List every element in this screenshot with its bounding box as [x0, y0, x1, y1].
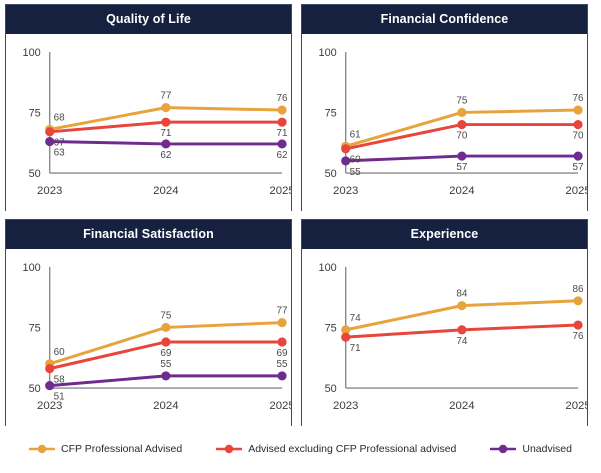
y-axis-tick-label: 100: [319, 47, 337, 59]
data-point-marker: [277, 337, 286, 346]
data-point-value-label: 70: [573, 130, 585, 141]
data-point-value-label: 68: [54, 112, 66, 123]
legend-item-unadvised[interactable]: Unadvised: [490, 443, 572, 455]
data-point-marker: [277, 371, 286, 380]
line-chart-financial-satisfaction: 5075100202320242025607577586969515555: [6, 249, 291, 426]
data-point-value-label: 76: [573, 93, 585, 104]
x-axis-tick-label: 2025: [565, 185, 587, 197]
data-point-marker: [277, 318, 286, 327]
line-chart-financial-confidence: 5075100202320242025617576607070555757: [302, 34, 587, 211]
data-point-value-label: 61: [350, 129, 362, 140]
line-dot-marker-icon: [216, 443, 242, 455]
panel-title: Financial Confidence: [302, 5, 587, 34]
y-axis-tick-label: 75: [325, 322, 337, 334]
data-point-value-label: 76: [573, 331, 585, 342]
chart-area: 5075100202320242025687776677171636262: [6, 34, 291, 211]
data-point-value-label: 76: [277, 93, 289, 104]
data-point-value-label: 51: [54, 391, 66, 402]
y-axis-tick-label: 50: [325, 383, 337, 395]
y-axis-tick-label: 50: [29, 168, 41, 180]
legend-item-cfp-professional-advised[interactable]: CFP Professional Advised: [29, 443, 182, 455]
data-point-value-label: 74: [350, 313, 362, 324]
data-point-value-label: 77: [277, 305, 289, 316]
data-point-marker: [573, 296, 582, 305]
data-point-value-label: 71: [350, 343, 362, 354]
y-axis-tick-label: 50: [29, 383, 41, 395]
legend-label: Unadvised: [522, 443, 572, 455]
y-axis-tick-label: 75: [29, 107, 41, 119]
y-axis-tick-label: 100: [23, 262, 41, 274]
data-point-value-label: 84: [456, 288, 468, 299]
y-axis-tick-label: 100: [23, 47, 41, 59]
data-point-value-label: 55: [277, 359, 289, 370]
x-axis-tick-label: 2025: [269, 400, 291, 412]
data-point-value-label: 60: [350, 154, 362, 165]
chart-panel-financial-satisfaction: Financial Satisfaction 50751002023202420…: [5, 219, 292, 426]
data-point-value-label: 57: [573, 162, 585, 173]
data-point-value-label: 75: [456, 95, 468, 106]
panel-title: Financial Satisfaction: [6, 220, 291, 249]
line-dot-marker-icon: [490, 443, 516, 455]
data-point-marker: [457, 120, 466, 129]
data-point-marker: [161, 139, 170, 148]
chart-panel-quality-of-life: Quality of Life 507510020232024202568777…: [5, 4, 292, 211]
data-point-value-label: 71: [160, 128, 172, 139]
x-axis-tick-label: 2024: [153, 400, 179, 412]
data-point-marker: [573, 151, 582, 160]
legend-item-advised-excluding-cfp[interactable]: Advised excluding CFP Professional advis…: [216, 443, 456, 455]
data-point-marker: [573, 120, 582, 129]
data-point-value-label: 77: [160, 90, 172, 101]
data-point-marker: [161, 337, 170, 346]
data-point-value-label: 69: [160, 348, 172, 359]
data-point-marker: [341, 332, 350, 341]
data-point-marker: [341, 144, 350, 153]
data-point-value-label: 55: [160, 359, 172, 370]
chart-area: 5075100202320242025617576607070555757: [302, 34, 587, 211]
data-point-value-label: 62: [160, 150, 172, 161]
y-axis-tick-label: 100: [319, 262, 337, 274]
panel-title: Experience: [302, 220, 587, 249]
data-point-marker: [457, 108, 466, 117]
data-point-marker: [457, 325, 466, 334]
legend-dot: [499, 445, 507, 453]
legend-label: CFP Professional Advised: [61, 443, 182, 455]
chart-area: 5075100202320242025748486717476: [302, 249, 587, 426]
x-axis-tick-label: 2023: [37, 185, 62, 197]
x-axis-tick-label: 2023: [333, 185, 358, 197]
chart-panel-experience: Experience 50751002023202420257484867174…: [301, 219, 588, 426]
data-point-marker: [277, 139, 286, 148]
y-axis-tick-label: 50: [325, 168, 337, 180]
data-point-marker: [457, 151, 466, 160]
data-point-marker: [457, 301, 466, 310]
legend-dot: [38, 445, 46, 453]
x-axis-tick-label: 2024: [449, 400, 475, 412]
data-point-value-label: 58: [54, 374, 66, 385]
x-axis-tick-label: 2025: [269, 185, 291, 197]
data-point-value-label: 70: [456, 130, 468, 141]
data-point-marker: [45, 364, 54, 373]
x-axis-tick-label: 2024: [153, 185, 179, 197]
data-point-marker: [573, 105, 582, 114]
x-axis-tick-label: 2025: [565, 400, 587, 412]
data-point-marker: [161, 103, 170, 112]
data-point-value-label: 63: [54, 147, 66, 158]
data-point-value-label: 55: [350, 167, 362, 178]
data-point-marker: [573, 320, 582, 329]
data-point-marker: [161, 117, 170, 126]
data-point-value-label: 62: [277, 150, 289, 161]
chart-legend: CFP Professional Advised Advised excludi…: [0, 443, 601, 455]
chart-area: 5075100202320242025607577586969515555: [6, 249, 291, 426]
data-point-value-label: 75: [160, 310, 172, 321]
data-point-value-label: 69: [277, 348, 289, 359]
x-axis-tick-label: 2024: [449, 185, 475, 197]
data-point-value-label: 86: [573, 284, 585, 295]
y-axis-tick-label: 75: [29, 322, 41, 334]
data-point-value-label: 57: [456, 162, 468, 173]
data-point-marker: [277, 117, 286, 126]
data-point-marker: [277, 105, 286, 114]
charts-grid: Quality of Life 507510020232024202568777…: [0, 0, 601, 426]
panel-title: Quality of Life: [6, 5, 291, 34]
x-axis-tick-label: 2023: [333, 400, 358, 412]
data-point-value-label: 74: [456, 336, 468, 347]
data-point-value-label: 71: [277, 128, 289, 139]
data-point-marker: [161, 371, 170, 380]
legend-label: Advised excluding CFP Professional advis…: [248, 443, 456, 455]
line-chart-quality-of-life: 5075100202320242025687776677171636262: [6, 34, 291, 211]
data-point-marker: [161, 323, 170, 332]
data-point-value-label: 60: [54, 347, 66, 358]
line-chart-experience: 5075100202320242025748486717476: [302, 249, 587, 426]
data-point-marker: [45, 127, 54, 136]
line-dot-marker-icon: [29, 443, 55, 455]
legend-dot: [225, 445, 233, 453]
chart-panel-financial-confidence: Financial Confidence 5075100202320242025…: [301, 4, 588, 211]
y-axis-tick-label: 75: [325, 107, 337, 119]
